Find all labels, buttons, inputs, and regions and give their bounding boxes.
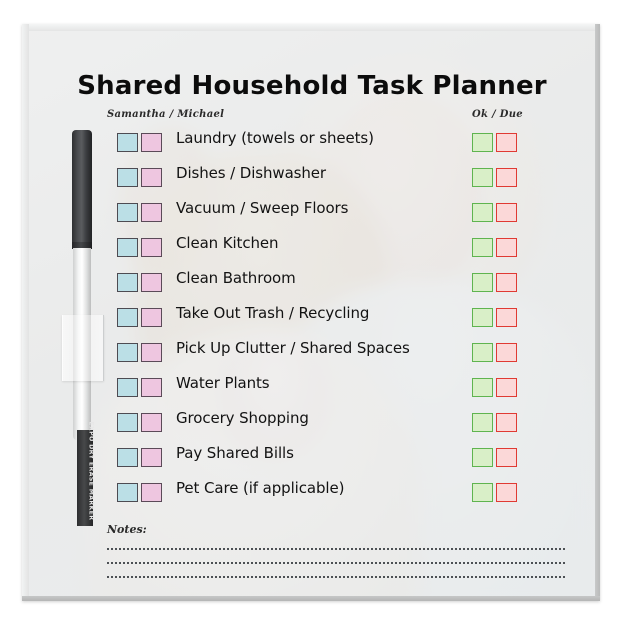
checkbox-samantha[interactable] [117, 343, 138, 362]
checkbox-samantha[interactable] [117, 238, 138, 257]
marker-cap [72, 130, 92, 248]
task-label: Water Plants [176, 374, 270, 392]
checkbox-samantha[interactable] [117, 448, 138, 467]
checkbox-michael[interactable] [141, 343, 162, 362]
task-label: Pet Care (if applicable) [176, 479, 344, 497]
task-label: Dishes / Dishwasher [176, 164, 326, 182]
checkbox-ok[interactable] [472, 378, 493, 397]
task-label: Grocery Shopping [176, 409, 309, 427]
dry-erase-marker[interactable]: EXPO DRY ERASE MARKER [70, 130, 94, 440]
checkbox-due[interactable] [496, 483, 517, 502]
task-label: Clean Bathroom [176, 269, 296, 287]
task-row: Clean Bathroom [29, 270, 595, 305]
checkbox-due[interactable] [496, 413, 517, 432]
checkbox-due[interactable] [496, 378, 517, 397]
checkbox-ok[interactable] [472, 133, 493, 152]
notes-write-line[interactable] [107, 562, 565, 564]
frame-bevel-right [595, 24, 600, 601]
frame-bevel-top [22, 24, 600, 31]
checkbox-michael[interactable] [141, 273, 162, 292]
notes-section: Notes: [107, 523, 565, 578]
task-row: Take Out Trash / Recycling [29, 305, 595, 340]
checkbox-michael[interactable] [141, 413, 162, 432]
checkbox-due[interactable] [496, 448, 517, 467]
checkbox-due[interactable] [496, 168, 517, 187]
task-row: Vacuum / Sweep Floors [29, 200, 595, 235]
task-label: Pay Shared Bills [176, 444, 294, 462]
checkbox-samantha[interactable] [117, 273, 138, 292]
checkbox-ok[interactable] [472, 203, 493, 222]
frame-bevel-left [22, 24, 29, 601]
checkbox-michael[interactable] [141, 483, 162, 502]
checkbox-ok[interactable] [472, 483, 493, 502]
product-photo-stage: Shared Household Task Planner Samantha /… [0, 0, 644, 644]
task-label: Vacuum / Sweep Floors [176, 199, 348, 217]
task-label: Take Out Trash / Recycling [176, 304, 369, 322]
column-header-status: Ok / Due [472, 109, 523, 120]
notes-write-line[interactable] [107, 576, 565, 578]
checkbox-samantha[interactable] [117, 483, 138, 502]
checkbox-due[interactable] [496, 308, 517, 327]
column-header-names: Samantha / Michael [107, 109, 224, 120]
checkbox-ok[interactable] [472, 343, 493, 362]
task-row: Clean Kitchen [29, 235, 595, 270]
marker-label-text: EXPO DRY ERASE MARKER [88, 422, 95, 518]
board-writable-surface: Shared Household Task Planner Samantha /… [29, 31, 595, 596]
checkbox-ok[interactable] [472, 448, 493, 467]
checkbox-michael[interactable] [141, 133, 162, 152]
checkbox-due[interactable] [496, 133, 517, 152]
checkbox-michael[interactable] [141, 203, 162, 222]
checkbox-samantha[interactable] [117, 168, 138, 187]
task-row: Pet Care (if applicable) [29, 480, 595, 515]
task-row: Pick Up Clutter / Shared Spaces [29, 340, 595, 375]
task-label: Pick Up Clutter / Shared Spaces [176, 339, 410, 357]
task-list: Laundry (towels or sheets) Dishes / Dish… [29, 130, 595, 515]
task-label: Laundry (towels or sheets) [176, 129, 374, 147]
marker-label: EXPO DRY ERASE MARKER [77, 430, 93, 526]
checkbox-samantha[interactable] [117, 308, 138, 327]
checkbox-ok[interactable] [472, 413, 493, 432]
checkbox-michael[interactable] [141, 238, 162, 257]
checkbox-samantha[interactable] [117, 133, 138, 152]
checkbox-due[interactable] [496, 238, 517, 257]
notes-label: Notes: [107, 523, 565, 536]
checkbox-samantha[interactable] [117, 203, 138, 222]
checkbox-due[interactable] [496, 203, 517, 222]
task-label: Clean Kitchen [176, 234, 278, 252]
checkbox-samantha[interactable] [117, 378, 138, 397]
checkbox-michael[interactable] [141, 378, 162, 397]
planner-content: Shared Household Task Planner Samantha /… [29, 31, 595, 596]
checkbox-michael[interactable] [141, 168, 162, 187]
checkbox-ok[interactable] [472, 308, 493, 327]
checkbox-ok[interactable] [472, 273, 493, 292]
checkbox-michael[interactable] [141, 308, 162, 327]
task-row: Laundry (towels or sheets) [29, 130, 595, 165]
checkbox-due[interactable] [496, 273, 517, 292]
checkbox-samantha[interactable] [117, 413, 138, 432]
marker-holder-clip[interactable] [62, 315, 104, 381]
checkbox-due[interactable] [496, 343, 517, 362]
task-row: Pay Shared Bills [29, 445, 595, 480]
notes-write-line[interactable] [107, 548, 565, 550]
checkbox-michael[interactable] [141, 448, 162, 467]
task-row: Water Plants [29, 375, 595, 410]
checkbox-ok[interactable] [472, 168, 493, 187]
page-title: Shared Household Task Planner [29, 71, 595, 101]
task-row: Dishes / Dishwasher [29, 165, 595, 200]
frame-bevel-bottom [22, 596, 600, 601]
checkbox-ok[interactable] [472, 238, 493, 257]
task-row: Grocery Shopping [29, 410, 595, 445]
dry-erase-board: Shared Household Task Planner Samantha /… [22, 24, 600, 601]
